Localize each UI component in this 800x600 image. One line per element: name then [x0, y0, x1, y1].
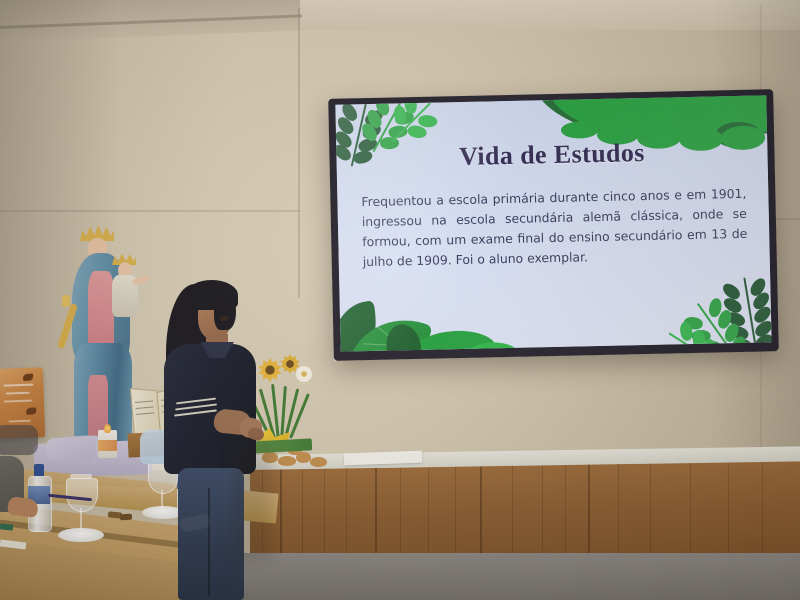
wall-seam-vertical [298, 8, 300, 298]
cloth-item [46, 438, 96, 460]
attendee-head [0, 425, 38, 455]
statue-robe [88, 271, 114, 351]
bread-roll [310, 457, 327, 467]
votive-candle[interactable] [98, 424, 117, 458]
presentation-slide: Vida de Estudos Frequentou a escola prim… [335, 95, 771, 351]
wine-glass[interactable] [66, 478, 96, 530]
bread-roll [278, 456, 296, 466]
slide-body-text: Frequentou a escola primária durante cin… [361, 184, 748, 273]
tv-screen: Vida de Estudos Frequentou a escola prim… [335, 95, 771, 351]
wall-mounted-television[interactable]: Vida de Estudos Frequentou a escola prim… [328, 89, 779, 361]
attendee-hand [7, 496, 39, 518]
candle-label [98, 440, 117, 451]
saucer [58, 528, 104, 542]
glass-stem [80, 508, 82, 530]
wooden-cabinet [250, 461, 800, 566]
table-item [120, 514, 132, 521]
flower-white [296, 366, 312, 382]
seated-attendee [0, 456, 50, 546]
slide-scallop [561, 121, 599, 139]
presenter-shadow [232, 440, 272, 560]
scepter-tip [62, 295, 70, 307]
photo-scene: Vida de Estudos Frequentou a escola prim… [0, 0, 800, 600]
glass-foot [70, 474, 92, 479]
jeans-seam [208, 488, 210, 596]
candle-flame [104, 424, 111, 433]
